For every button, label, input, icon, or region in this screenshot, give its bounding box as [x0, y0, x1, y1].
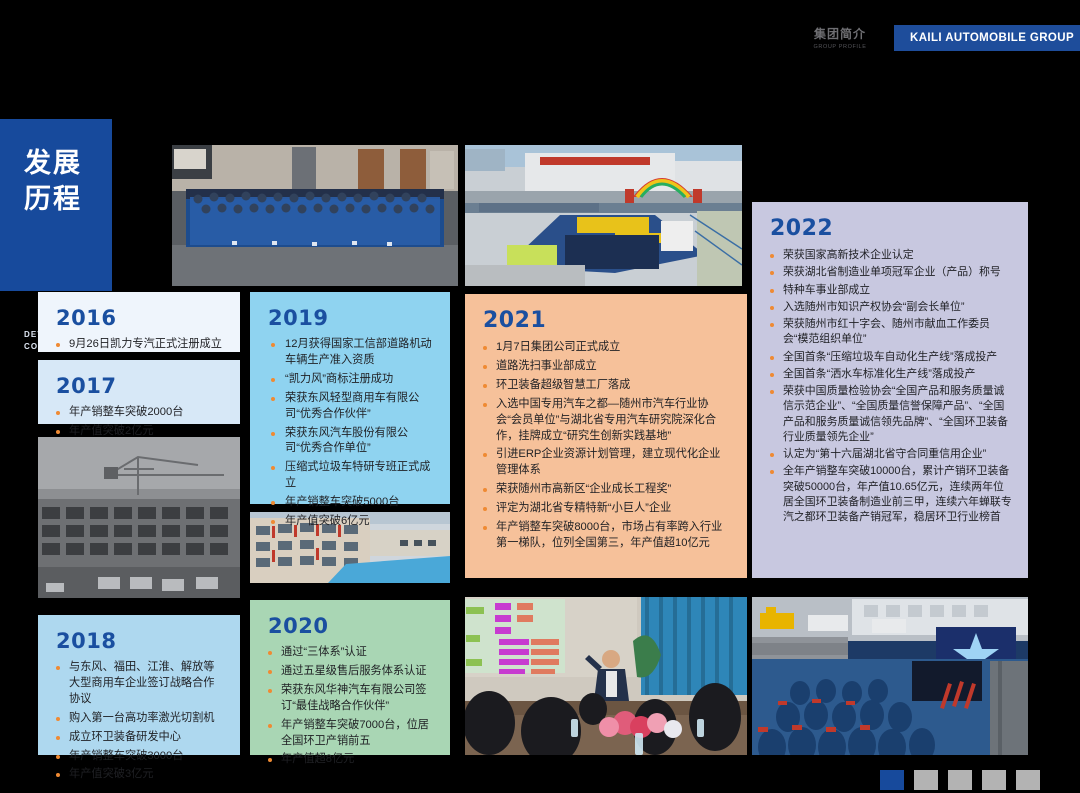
list-item: 荣获随州市红十字会、随州市献血工作委员会“模范组织单位” — [770, 317, 1012, 348]
list-item: 压缩式垃圾车特研专班正式成立 — [268, 460, 434, 492]
event-list: 12月获得国家工信部道路机动车辆生产准入资质 “凯力风”商标注册成功 荣获东风轻… — [268, 337, 434, 530]
list-item: 入选随州市知识产权协会“副会长单位” — [770, 300, 1012, 315]
list-item: 特种车事业部成立 — [770, 283, 1012, 298]
list-item: 荣获东风汽车股份有限公司“优秀合作单位” — [268, 426, 434, 458]
event-list: 9月26日凯力专汽正式注册成立 — [56, 337, 224, 353]
list-item: 年产销整车突破7000台，位居全国环卫产销前五 — [268, 718, 434, 750]
year-label: 2018 — [56, 629, 224, 653]
timeline-card-2018[interactable]: 2018 与东风、福田、江淮、解放等大型商用车企业签订战略合作协议 购入第一台高… — [38, 615, 240, 755]
pagination-dot-3[interactable] — [948, 770, 972, 790]
pagination-dot-4[interactable] — [982, 770, 1006, 790]
list-item: 荣获东风轻型商用车有限公司“优秀合作伙伴” — [268, 391, 434, 423]
list-item: 年产值突破6亿元 — [268, 514, 434, 530]
photo-construction-site — [38, 437, 240, 598]
list-item: 评定为湖北省专精特新“小巨人”企业 — [483, 501, 731, 517]
list-item: 全国首条“洒水车标准化生产线”落成投产 — [770, 367, 1012, 382]
year-label: 2016 — [56, 306, 224, 330]
year-label: 2022 — [770, 216, 1012, 241]
pagination-dot-2[interactable] — [914, 770, 938, 790]
year-label: 2017 — [56, 374, 224, 398]
list-item: 入选中国专用汽车之都—随州市汽车行业协会“会员单位”与湖北省专用汽车研究院深化合… — [483, 397, 731, 445]
list-item: 成立环卫装备研发中心 — [56, 730, 224, 746]
list-item: 引进ERP企业资源计划管理，建立现代化企业管理体系 — [483, 447, 731, 479]
list-item: 通过五星级售后服务体系认证 — [268, 664, 434, 680]
list-item: 全国首条“压缩垃圾车自动化生产线”落成投产 — [770, 350, 1012, 365]
section-title-cn: 发展历程 — [24, 145, 82, 218]
list-item: 认定为“第十六届湖北省守合同重信用企业” — [770, 447, 1012, 462]
event-list: 与东风、福田、江淮、解放等大型商用车企业签订战略合作协议 购入第一台高功率激光切… — [56, 660, 224, 783]
list-item: 通过“三体系”认证 — [268, 645, 434, 661]
list-item: “凯力风”商标注册成功 — [268, 372, 434, 388]
list-item: 环卫装备超级智慧工厂落成 — [483, 378, 731, 394]
list-item: 荣获东风华神汽车有限公司签订“最佳战略合作伙伴” — [268, 683, 434, 715]
timeline-card-2020[interactable]: 2020 通过“三体系”认证 通过五星级售后服务体系认证 荣获东风华神汽车有限公… — [250, 600, 450, 755]
list-item: 年产销整车突破3000台 — [56, 749, 224, 765]
timeline-card-2019[interactable]: 2019 12月获得国家工信部道路机动车辆生产准入资质 “凯力风”商标注册成功 … — [250, 292, 450, 504]
event-list: 荣获国家高新技术企业认定 荣获湖北省制造业单项冠军企业（产品）称号 特种车事业部… — [770, 248, 1012, 526]
list-item: 购入第一台高功率激光切割机 — [56, 711, 224, 727]
timeline-card-2017[interactable]: 2017 年产销整车突破2000台 年产值突破2亿元 — [38, 360, 240, 424]
list-item: 道路洗扫事业部成立 — [483, 359, 731, 375]
timeline-card-2021[interactable]: 2021 1月7日集团公司正式成立 道路洗扫事业部成立 环卫装备超级智慧工厂落成… — [465, 294, 747, 578]
list-item: 荣获中国质量检验协会“全国产品和服务质量诚信示范企业”、“全国质量信誉保障产品”… — [770, 384, 1012, 445]
nav-group-profile-cn[interactable]: 集团简介 — [800, 28, 880, 42]
list-item: 荣获湖北省制造业单项冠军企业（产品）称号 — [770, 265, 1012, 280]
photo-conference-presentation — [465, 597, 747, 755]
list-item: 荣获随州市高新区“企业成长工程奖” — [483, 482, 731, 498]
list-item: 全年产销整车突破10000台，累计产销环卫装备突破50000台，年产值10.65… — [770, 464, 1012, 525]
year-label: 2020 — [268, 614, 434, 638]
event-list: 通过“三体系”认证 通过五星级售后服务体系认证 荣获东风华神汽车有限公司签订“最… — [268, 645, 434, 768]
list-item: 年产值超8亿元 — [268, 752, 434, 768]
page-header: 集团简介 GROUP PROFILE KAILI AUTOMOBILE GROU… — [0, 0, 1080, 74]
list-item: 1月7日集团公司正式成立 — [483, 340, 731, 356]
year-label: 2019 — [268, 306, 434, 330]
list-item: 年产值突破3亿元 — [56, 767, 224, 783]
pagination-dot-5[interactable] — [1016, 770, 1040, 790]
pagination-dot-1[interactable] — [880, 770, 904, 790]
photo-aerial-ceremony — [465, 145, 742, 286]
event-list: 年产销整车突破2000台 年产值突破2亿元 — [56, 405, 224, 440]
list-item: 年产销整车突破5000台 — [268, 495, 434, 511]
nav-group-profile-en: GROUP PROFILE — [800, 44, 880, 50]
timeline-card-2016[interactable]: 2016 9月26日凯力专汽正式注册成立 — [38, 292, 240, 352]
photo-annual-assembly — [752, 597, 1028, 755]
photo-employee-group — [172, 145, 458, 286]
event-list: 1月7日集团公司正式成立 道路洗扫事业部成立 环卫装备超级智慧工厂落成 入选中国… — [483, 340, 731, 552]
pagination[interactable] — [880, 770, 1040, 790]
list-item: 与东风、福田、江淮、解放等大型商用车企业签订战略合作协议 — [56, 660, 224, 708]
list-item: 年产值突破2亿元 — [56, 424, 224, 440]
list-item: 12月获得国家工信部道路机动车辆生产准入资质 — [268, 337, 434, 369]
list-item: 荣获国家高新技术企业认定 — [770, 248, 1012, 263]
list-item: 9月26日凯力专汽正式注册成立 — [56, 337, 224, 353]
section-title-panel: 发展历程 DEVELOPMENT COURSE — [0, 119, 112, 291]
list-item: 年产销整车突破2000台 — [56, 405, 224, 421]
list-item: 年产销整车突破8000台，市场占有率跨入行业第一梯队，位列全国第三，年产值超10… — [483, 520, 731, 552]
brand-badge: KAILI AUTOMOBILE GROUP — [894, 25, 1080, 51]
year-label: 2021 — [483, 308, 731, 333]
timeline-card-2022[interactable]: 2022 荣获国家高新技术企业认定 荣获湖北省制造业单项冠军企业（产品）称号 特… — [752, 202, 1028, 578]
